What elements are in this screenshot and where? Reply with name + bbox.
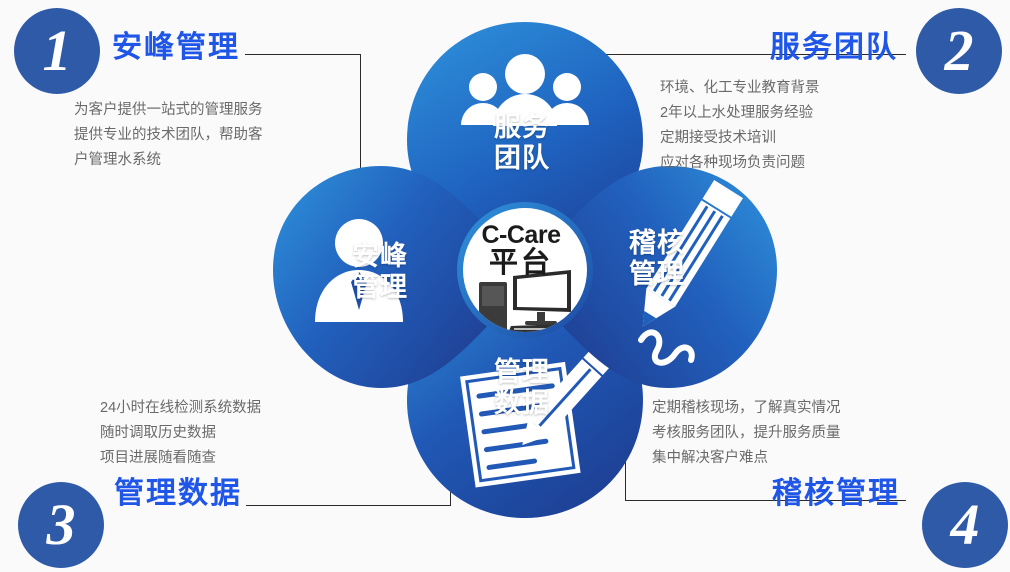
badge-number-1: 1: [14, 8, 100, 94]
badge-number-3: 3: [18, 482, 104, 568]
section-body-line: 应对各种现场负责问题: [660, 151, 820, 176]
badge-number-4: 4: [922, 482, 1008, 568]
section-body-line: 环境、化工专业教育背景: [660, 76, 820, 101]
section-body-anfeng-management: 为客户提供一站式的管理服务提供专业的技术团队，帮助客户管理水系统: [74, 98, 263, 173]
section-body-line: 提供专业的技术团队，帮助客: [74, 123, 263, 148]
section-body-line: 项目进展随看随查: [100, 446, 261, 471]
section-body-service-team: 环境、化工专业教育背景2年以上水处理服务经验定期接受技术培训应对各种现场负责问题: [660, 76, 820, 176]
section-title-anfeng-management: 安峰管理: [112, 22, 240, 66]
section-title-audit-management: 稽核管理: [772, 468, 900, 512]
section-body-line: 定期稽核现场，了解真实情况: [652, 396, 841, 421]
section-body-line: 考核服务团队，提升服务质量: [652, 421, 841, 446]
section-body-line: 24小时在线检测系统数据: [100, 396, 261, 421]
section-body-management-data: 24小时在线检测系统数据随时调取历史数据项目进展随看随查: [100, 396, 261, 471]
section-title-service-team: 服务团队: [770, 22, 898, 66]
section-body-line: 集中解决客户难点: [652, 446, 841, 471]
section-body-audit-management: 定期稽核现场，了解真实情况考核服务团队，提升服务质量集中解决客户难点: [652, 396, 841, 471]
badge-number-2: 2: [916, 8, 1002, 94]
section-body-line: 定期接受技术培训: [660, 126, 820, 151]
section-body-line: 户管理水系统: [74, 148, 263, 173]
section-body-line: 随时调取历史数据: [100, 421, 261, 446]
infographic-canvas: 服务 团队 安峰 管理 稽核 管理 管理 数据 C-Care 平台 1 2 3 …: [0, 0, 1010, 572]
section-body-line: 为客户提供一站式的管理服务: [74, 98, 263, 123]
section-body-line: 2年以上水处理服务经验: [660, 101, 820, 126]
section-title-management-data: 管理数据: [114, 468, 242, 512]
